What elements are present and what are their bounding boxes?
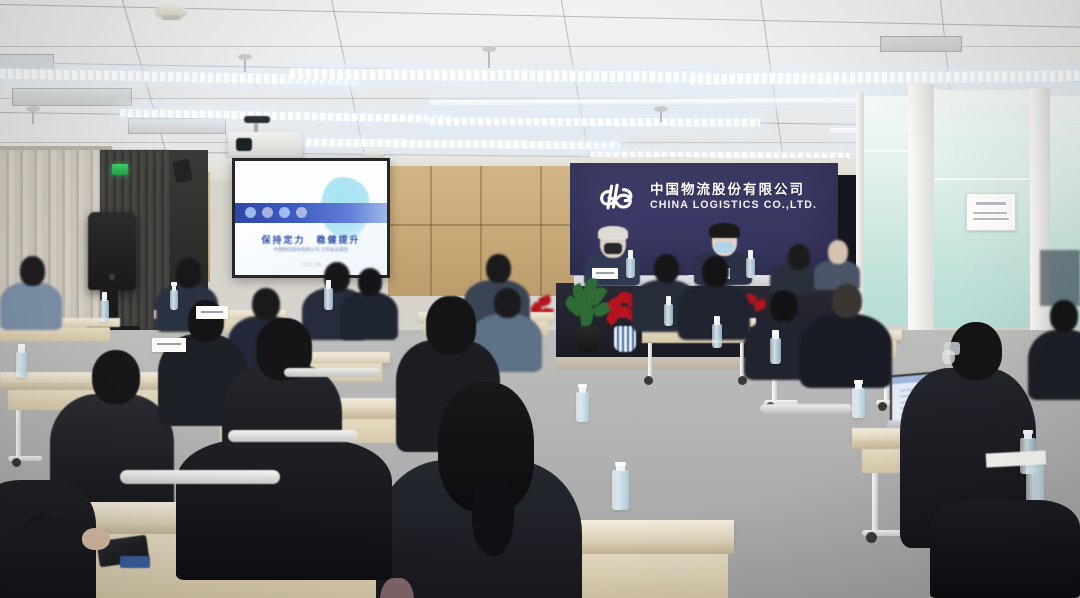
chair-back bbox=[284, 368, 380, 377]
water-bottle bbox=[626, 258, 635, 278]
water-bottle bbox=[712, 324, 722, 348]
pa-speaker bbox=[88, 212, 136, 290]
slide-subtitle: 中国物流股份有限公司 工作会议报告 bbox=[235, 247, 387, 253]
chair-back bbox=[120, 470, 280, 484]
slide-footer: 二〇二二年 bbox=[235, 262, 387, 268]
chinese-knot-logo-icon bbox=[596, 177, 640, 217]
water-bottle bbox=[100, 300, 109, 322]
slide-icon bbox=[262, 207, 273, 218]
banner-company-en: CHINA LOGISTICS CO.,LTD. bbox=[650, 200, 817, 211]
structural-column bbox=[908, 84, 934, 330]
slide-icon bbox=[245, 207, 256, 218]
water-bottle bbox=[1026, 462, 1044, 504]
chair-back bbox=[228, 430, 358, 442]
water-bottle bbox=[170, 290, 178, 310]
water-bottle bbox=[16, 352, 27, 378]
chair-back bbox=[760, 404, 852, 413]
name-card bbox=[592, 268, 618, 279]
name-card bbox=[152, 338, 186, 352]
smoke-detector-icon bbox=[156, 4, 186, 17]
projection-screen: 保持定力 稳健提升 中国物流股份有限公司 工作会议报告 二〇二二年 bbox=[232, 158, 390, 278]
slide-title: 保持定力 稳健提升 bbox=[235, 233, 387, 246]
water-bottle bbox=[664, 304, 673, 326]
exit-sign-icon bbox=[112, 164, 128, 175]
slide-icon bbox=[279, 207, 290, 218]
water-bottle bbox=[612, 470, 629, 510]
water-bottle bbox=[324, 288, 333, 310]
name-card bbox=[196, 306, 228, 319]
wall-notice-sign bbox=[966, 193, 1016, 231]
water-bottle bbox=[852, 388, 865, 418]
ceiling-projector bbox=[228, 132, 302, 158]
water-bottle bbox=[576, 392, 589, 422]
slide-icon bbox=[296, 207, 307, 218]
banner-company-cn: 中国物流股份有限公司 bbox=[650, 183, 817, 197]
conference-room-photo: 保持定力 稳健提升 中国物流股份有限公司 工作会议报告 二〇二二年 中国物流股份… bbox=[0, 0, 1080, 598]
small-device bbox=[120, 556, 150, 568]
water-bottle bbox=[746, 258, 755, 278]
background-monitor bbox=[1040, 250, 1080, 306]
water-bottle bbox=[770, 338, 781, 364]
